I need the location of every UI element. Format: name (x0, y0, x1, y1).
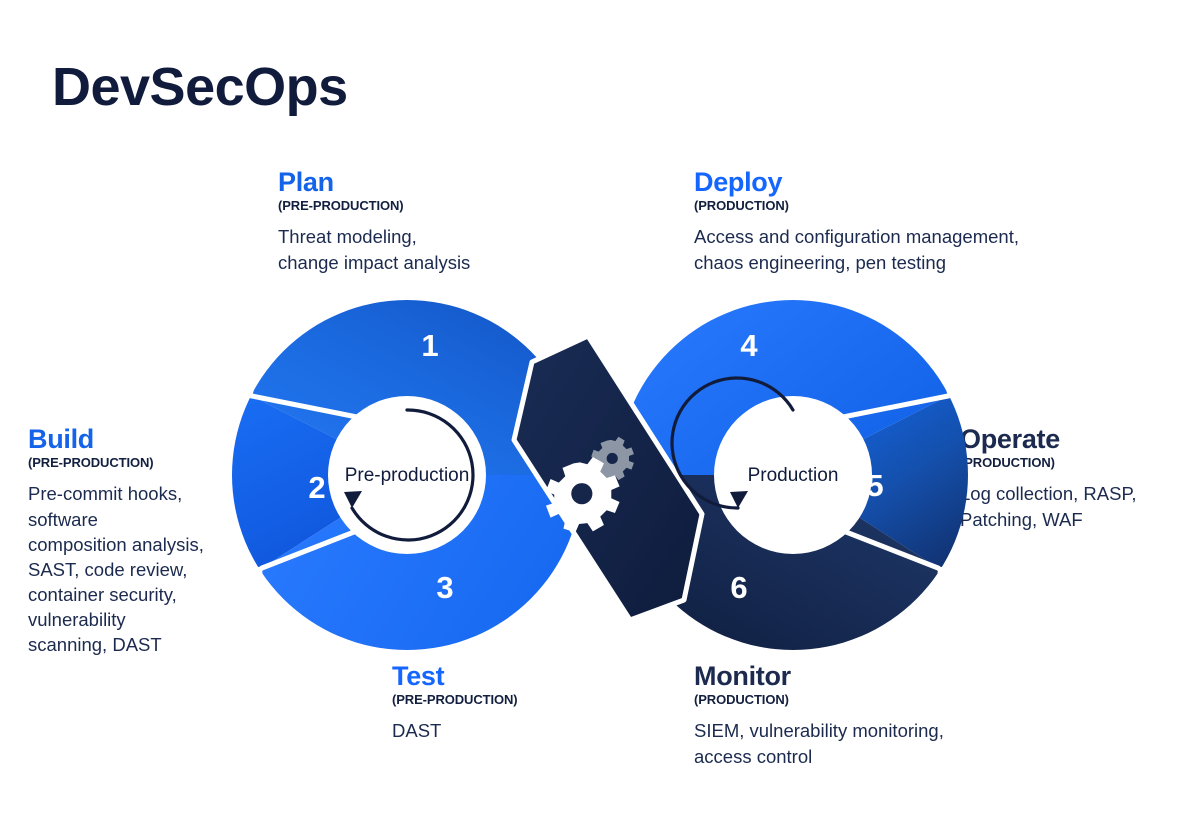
stage-description-test: DAST (392, 718, 642, 743)
stage-environment-monitor: (PRODUCTION) (694, 692, 1054, 707)
infinity-loop-diagram: Pre-production Production (232, 300, 968, 650)
stage-block-deploy: Deploy (PRODUCTION) Access and configura… (694, 168, 1074, 275)
stage-environment-plan: (PRE-PRODUCTION) (278, 198, 568, 213)
stage-description-monitor: SIEM, vulnerability monitoring, access c… (694, 718, 1054, 768)
hub-pre-production: Pre-production (328, 396, 486, 554)
stage-heading-operate: Operate (960, 425, 1200, 453)
stage-environment-test: (PRE-PRODUCTION) (392, 692, 642, 707)
stage-block-plan: Plan (PRE-PRODUCTION) Threat modeling, c… (278, 168, 568, 275)
stage-heading-plan: Plan (278, 168, 568, 196)
stage-environment-deploy: (PRODUCTION) (694, 198, 1074, 213)
stage-block-monitor: Monitor (PRODUCTION) SIEM, vulnerability… (694, 662, 1054, 769)
stage-heading-monitor: Monitor (694, 662, 1054, 690)
loop-number-5: 5 (866, 468, 883, 503)
stage-description-operate: Log collection, RASP, Patching, WAF (960, 481, 1200, 531)
hub-label-right: Production (748, 465, 839, 486)
loop-number-1: 1 (421, 328, 438, 363)
hub-label-left: Pre-production (345, 465, 470, 486)
stage-environment-operate: (PRODUCTION) (960, 455, 1200, 470)
loop-number-3: 3 (436, 570, 453, 605)
stage-block-operate: Operate (PRODUCTION) Log collection, RAS… (960, 425, 1200, 532)
page-title: DevSecOps (52, 58, 348, 117)
stage-description-plan: Threat modeling, change impact analysis (278, 224, 568, 274)
stage-heading-deploy: Deploy (694, 168, 1074, 196)
stage-heading-test: Test (392, 662, 642, 690)
loop-number-6: 6 (730, 570, 747, 605)
loop-number-2: 2 (308, 470, 325, 505)
stage-block-test: Test (PRE-PRODUCTION) DAST (392, 662, 642, 744)
devsecops-infographic: DevSecOps Plan (PRE-PRODUCTION) Threat m… (0, 0, 1200, 837)
stage-description-deploy: Access and configuration management, cha… (694, 224, 1074, 274)
loop-number-4: 4 (740, 328, 758, 363)
